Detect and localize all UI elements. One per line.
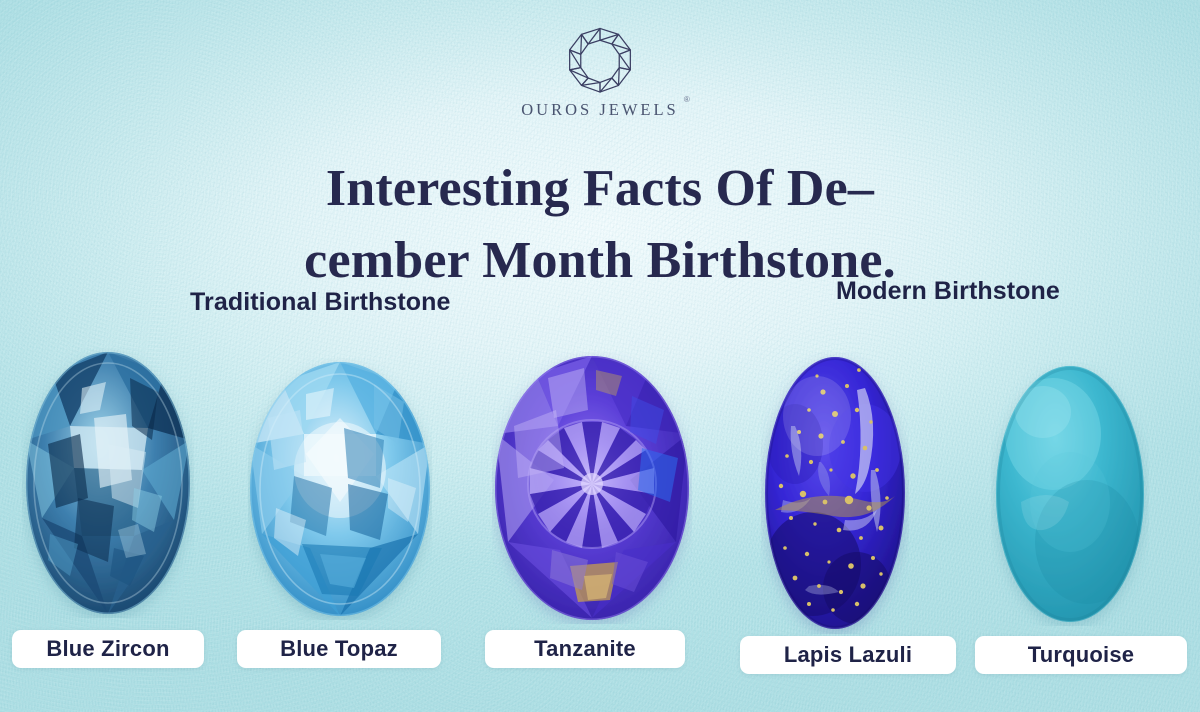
gem-label-lapis-lazuli[interactable]: Lapis Lazuli xyxy=(740,636,956,674)
gem-label-blue-topaz[interactable]: Blue Topaz xyxy=(237,630,441,668)
title-line-1: Interesting Facts Of De– xyxy=(326,160,874,217)
diamond-outline-icon xyxy=(563,24,637,98)
brand-logo: OUROS JEWELS ® xyxy=(0,24,1200,120)
gemstone-lapis-lazuli xyxy=(761,352,909,634)
wordmark-wrap: OUROS JEWELS ® xyxy=(521,100,678,120)
poster-canvas: OUROS JEWELS ® Interesting Facts Of De– … xyxy=(0,0,1200,712)
gemstone-tanzanite xyxy=(492,352,692,624)
section-header-traditional: Traditional Birthstone xyxy=(190,288,451,317)
brand-wordmark: OUROS JEWELS xyxy=(521,100,678,119)
gem-label-blue-zircon[interactable]: Blue Zircon xyxy=(12,630,204,668)
gemstone-blue-zircon xyxy=(22,348,194,618)
gemstone-blue-topaz xyxy=(248,358,432,620)
page-title: Interesting Facts Of De– cember Month Bi… xyxy=(0,153,1200,297)
title-line-2: cember Month Birthstone. xyxy=(304,232,896,289)
registered-trademark-icon: ® xyxy=(684,95,690,104)
section-header-modern: Modern Birthstone xyxy=(836,277,1060,306)
gem-label-tanzanite[interactable]: Tanzanite xyxy=(485,630,685,668)
gem-label-turquoise[interactable]: Turquoise xyxy=(975,636,1187,674)
gemstone-turquoise xyxy=(991,362,1149,626)
